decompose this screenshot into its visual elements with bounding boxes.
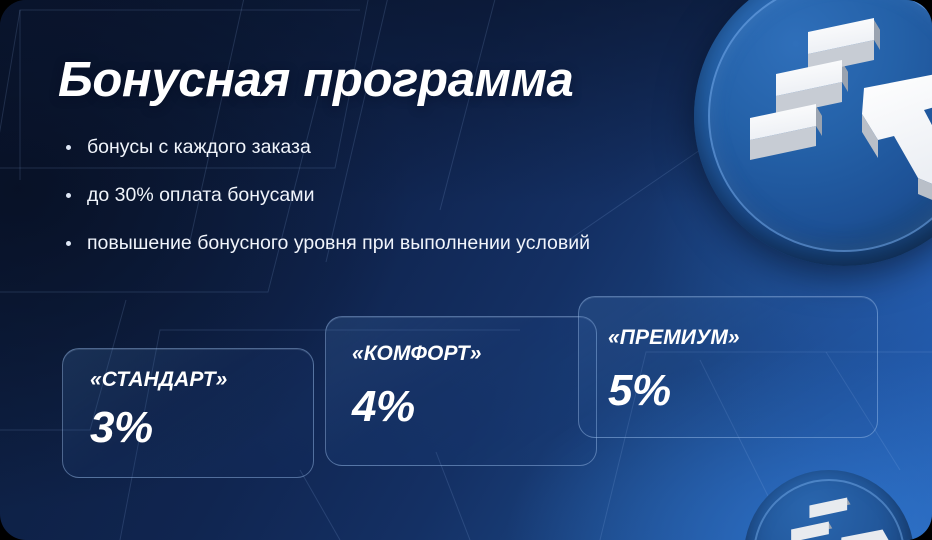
tier-name-premium: «ПРЕМИУМ» <box>608 326 740 350</box>
tier-value-comfort: 4% <box>352 382 415 432</box>
page-title: Бонусная программа <box>58 52 574 108</box>
tier-name-standard: «СТАНДАРТ» <box>90 368 227 392</box>
list-item-label: до 30% оплата бонусами <box>87 182 314 208</box>
bullet-dot-icon <box>66 145 71 150</box>
benefits-list: бонусы с каждого заказа до 30% оплата бо… <box>66 134 766 278</box>
list-item: бонусы с каждого заказа <box>66 134 766 160</box>
tier-value-premium: 5% <box>608 366 671 416</box>
logo-disc-ring-secondary <box>753 479 905 540</box>
tier-name-comfort: «КОМФОРТ» <box>352 342 481 366</box>
list-item-label: бонусы с каждого заказа <box>87 134 311 160</box>
list-item: до 30% оплата бонусами <box>66 182 766 208</box>
bullet-dot-icon <box>66 193 71 198</box>
tier-value-standard: 3% <box>90 403 153 453</box>
list-item-label: повышение бонусного уровня при выполнени… <box>87 230 590 256</box>
list-item: повышение бонусного уровня при выполнени… <box>66 230 766 256</box>
bullet-dot-icon <box>66 241 71 246</box>
bonus-program-banner: Бонусная программа бонусы с каждого зака… <box>0 0 932 540</box>
